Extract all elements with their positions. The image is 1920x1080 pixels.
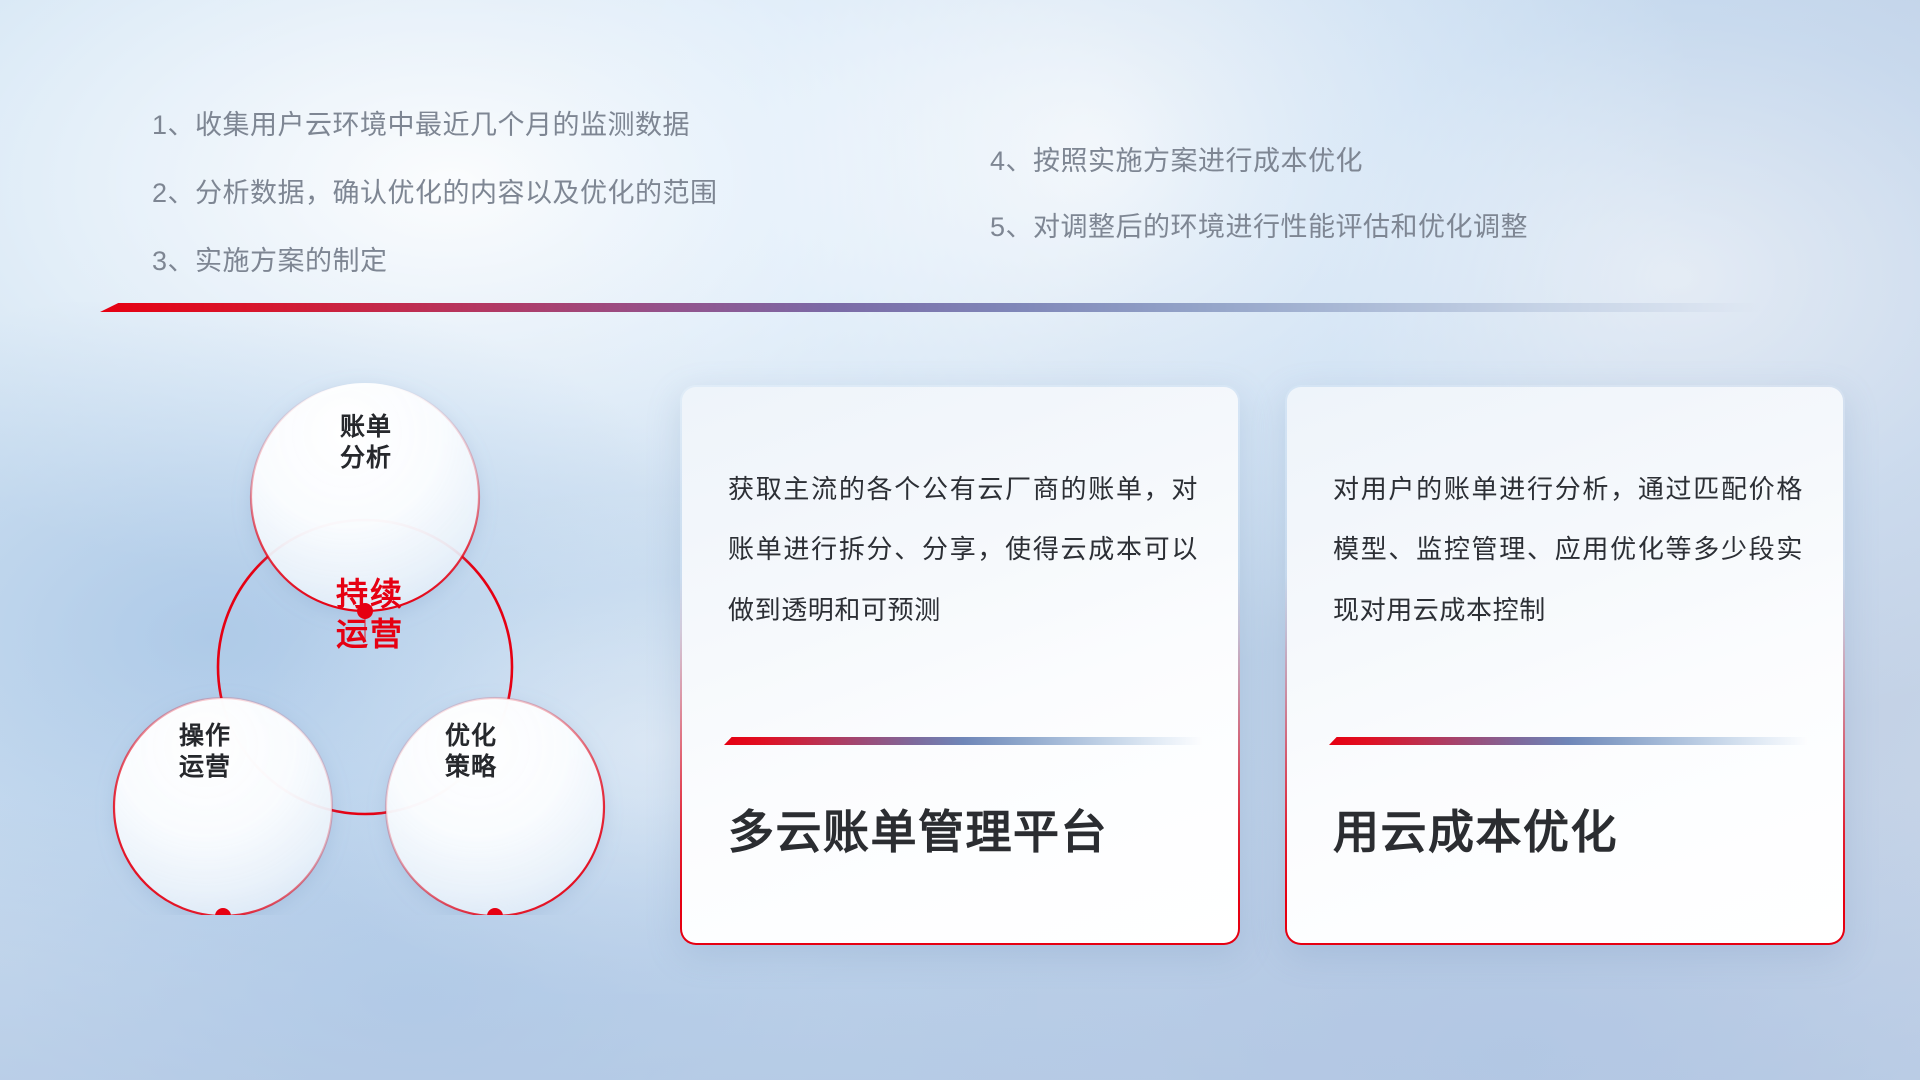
slide-content: 1、收集用户云环境中最近几个月的监测数据 2、分析数据，确认优化的内容以及优化的…	[0, 0, 1920, 1080]
section-divider-gradient	[100, 303, 1760, 312]
step-item-2: 2、分析数据，确认优化的内容以及优化的范围	[152, 180, 718, 207]
diagram-center-label: 持续 运营	[275, 575, 465, 654]
section-divider-rule	[100, 303, 1760, 312]
step-item-3: 3、实施方案的制定	[152, 248, 718, 275]
steps-list-right: 4、按照实施方案进行成本优化 5、对调整后的环境进行性能评估和优化调整	[990, 148, 1528, 280]
feature-card-divider	[724, 737, 1202, 745]
feature-card-body-text: 获取主流的各个公有云厂商的账单，对账单进行拆分、分享，使得云成本可以做到透明和可…	[728, 459, 1198, 640]
diagram-lobe-label-optimization-strategy: 优化 策略	[401, 721, 541, 782]
continuous-operations-diagram: 账单 分析 操作 运营 优化 策略 持续 运营	[95, 355, 635, 915]
diagram-lobe-label-operations: 操作 运营	[135, 721, 275, 782]
feature-card-title: 用云成本优化	[1333, 805, 1618, 860]
feature-card-body-text: 对用户的账单进行分析，通过匹配价格模型、监控管理、应用优化等多少段实现对用云成本…	[1333, 459, 1803, 640]
step-item-4: 4、按照实施方案进行成本优化	[990, 148, 1528, 175]
feature-card-inner: 对用户的账单进行分析，通过匹配价格模型、监控管理、应用优化等多少段实现对用云成本…	[1287, 387, 1843, 943]
step-item-5: 5、对调整后的环境进行性能评估和优化调整	[990, 214, 1528, 241]
diagram-lobe-label-billing-analysis: 账单 分析	[291, 412, 441, 473]
step-item-1: 1、收集用户云环境中最近几个月的监测数据	[152, 112, 718, 139]
feature-card-title: 多云账单管理平台	[728, 805, 1108, 860]
feature-card-divider	[1329, 737, 1807, 745]
feature-card-inner: 获取主流的各个公有云厂商的账单，对账单进行拆分、分享，使得云成本可以做到透明和可…	[682, 387, 1238, 943]
feature-card-multi-cloud-billing-platform[interactable]: 获取主流的各个公有云厂商的账单，对账单进行拆分、分享，使得云成本可以做到透明和可…	[680, 385, 1240, 945]
feature-card-cloud-cost-optimization[interactable]: 对用户的账单进行分析，通过匹配价格模型、监控管理、应用优化等多少段实现对用云成本…	[1285, 385, 1845, 945]
steps-list-left: 1、收集用户云环境中最近几个月的监测数据 2、分析数据，确认优化的内容以及优化的…	[152, 112, 718, 316]
